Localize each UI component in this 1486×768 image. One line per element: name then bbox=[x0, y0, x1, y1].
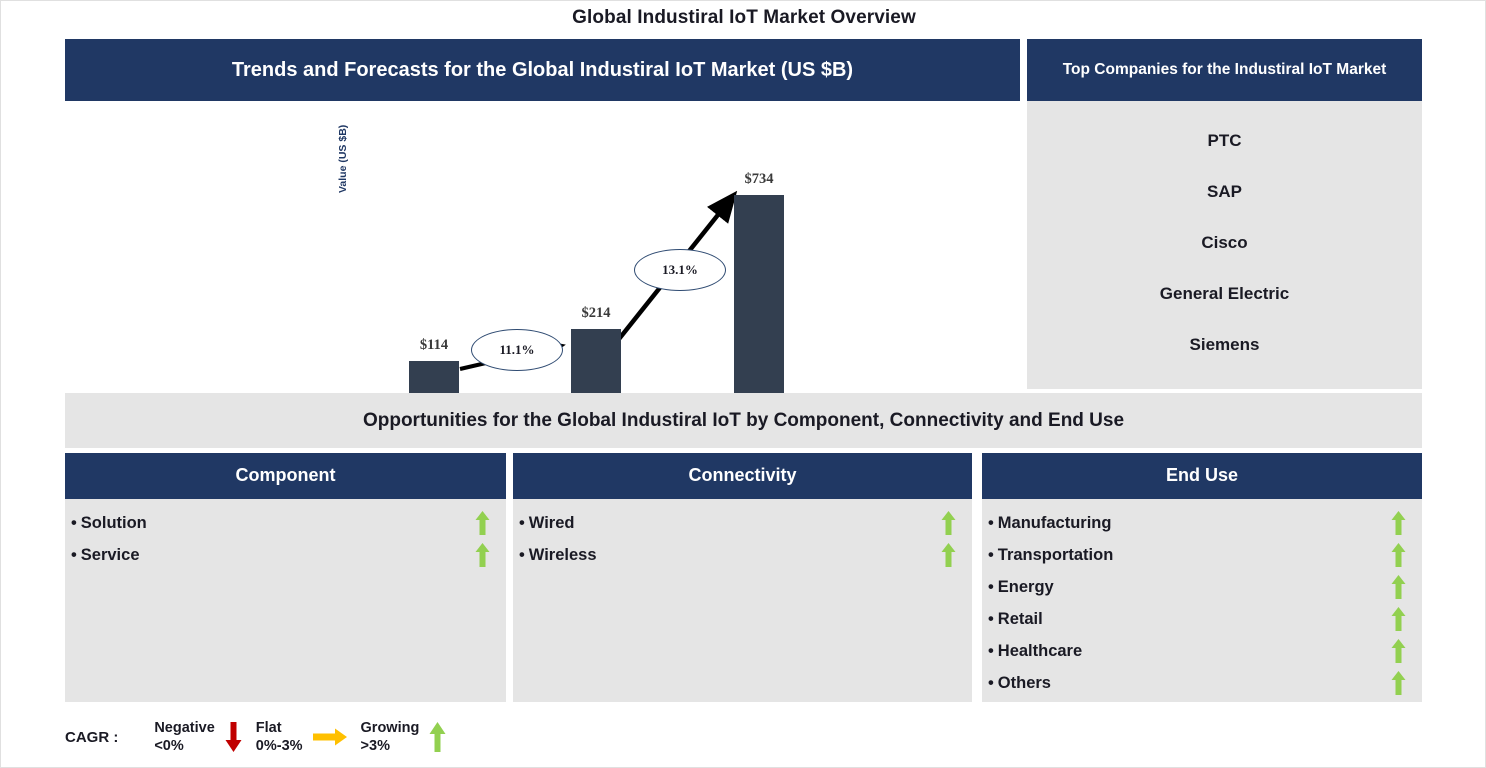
list-item-label: Service bbox=[81, 546, 140, 564]
infographic-page: Global Industiral IoT Market Overview Tr… bbox=[0, 0, 1486, 768]
legend-text-growing: Growing >3% bbox=[361, 719, 420, 755]
opportunity-column-component: Component •Solution •Service bbox=[65, 453, 506, 702]
opportunity-column-connectivity: Connectivity •Wired •Wireless bbox=[513, 453, 972, 702]
bullet-icon: • bbox=[988, 642, 994, 660]
bullet-icon: • bbox=[71, 546, 77, 564]
trend-cell bbox=[1384, 543, 1412, 567]
trend-cell bbox=[1384, 511, 1412, 535]
company-item: SAP bbox=[1207, 182, 1242, 202]
trend-cell bbox=[934, 511, 962, 535]
list-item: •Others bbox=[988, 667, 1412, 699]
column-header-connectivity: Connectivity bbox=[513, 453, 972, 499]
list-item-label-wrap: •Wireless bbox=[519, 546, 934, 565]
chart-panel: Trends and Forecasts for the Global Indu… bbox=[65, 39, 1020, 389]
top-companies-list: PTC SAP Cisco General Electric Siemens bbox=[1027, 101, 1422, 389]
legend-range-negative: <0% bbox=[154, 737, 214, 755]
legend-name-flat: Flat bbox=[256, 719, 303, 737]
cagr-bubble-2025-2035: 13.1% bbox=[634, 249, 726, 291]
bar-value-2019: $114 bbox=[394, 337, 474, 354]
top-companies-header: Top Companies for the Industiral IoT Mar… bbox=[1027, 39, 1422, 101]
list-item-label: Healthcare bbox=[998, 642, 1082, 660]
list-item-label-wrap: •Others bbox=[988, 674, 1384, 693]
arrow-up-icon bbox=[941, 511, 956, 535]
company-item: Cisco bbox=[1201, 233, 1247, 253]
column-body-end-use: •Manufacturing •Transportation •Energy •… bbox=[982, 499, 1422, 702]
list-item-label: Wired bbox=[529, 514, 575, 532]
cagr-bubble-2019-2025: 11.1% bbox=[471, 329, 563, 371]
legend-range-growing: >3% bbox=[361, 737, 420, 755]
legend-item-growing: Growing >3% bbox=[361, 719, 420, 755]
opportunities-banner: Opportunities for the Global Industiral … bbox=[65, 393, 1422, 448]
arrow-up-icon bbox=[1391, 575, 1406, 599]
arrow-right-icon bbox=[313, 728, 347, 746]
list-item: •Wired bbox=[519, 507, 962, 539]
opportunity-column-end-use: End Use •Manufacturing •Transportation •… bbox=[982, 453, 1422, 702]
trend-cell bbox=[1384, 671, 1412, 695]
bullet-icon: • bbox=[988, 546, 994, 564]
company-item: Siemens bbox=[1190, 335, 1260, 355]
legend-name-growing: Growing bbox=[361, 719, 420, 737]
bar-2025 bbox=[571, 329, 621, 397]
y-axis-label: Value (US $B) bbox=[337, 125, 349, 193]
list-item-label: Solution bbox=[81, 514, 147, 532]
bullet-icon: • bbox=[988, 578, 994, 596]
list-item: •Transportation bbox=[988, 539, 1412, 571]
list-item-label-wrap: •Healthcare bbox=[988, 642, 1384, 661]
top-companies-panel: Top Companies for the Industiral IoT Mar… bbox=[1027, 39, 1422, 389]
list-item: •Manufacturing bbox=[988, 507, 1412, 539]
legend-item-negative: Negative <0% bbox=[154, 719, 214, 755]
arrow-up-icon bbox=[1391, 671, 1406, 695]
legend-name-negative: Negative bbox=[154, 719, 214, 737]
list-item-label-wrap: •Retail bbox=[988, 610, 1384, 629]
list-item-label-wrap: •Solution bbox=[71, 514, 468, 533]
list-item-label-wrap: •Service bbox=[71, 546, 468, 565]
arrow-up-icon bbox=[475, 543, 490, 567]
arrow-up-icon bbox=[1391, 607, 1406, 631]
trend-cell bbox=[468, 543, 496, 567]
list-item: •Energy bbox=[988, 571, 1412, 603]
list-item-label-wrap: •Energy bbox=[988, 578, 1384, 597]
list-item: •Wireless bbox=[519, 539, 962, 571]
list-item-label: Wireless bbox=[529, 546, 597, 564]
list-item-label-wrap: •Manufacturing bbox=[988, 514, 1384, 533]
trend-cell bbox=[468, 511, 496, 535]
chart-plot-area: Value (US $B) $114 $214 $734 2019 2025 2… bbox=[65, 101, 1020, 389]
list-item: •Solution bbox=[71, 507, 496, 539]
bar-value-2035: $734 bbox=[719, 171, 799, 188]
arrow-up-icon bbox=[1391, 543, 1406, 567]
legend-text-negative: Negative <0% bbox=[154, 719, 214, 755]
list-item: •Healthcare bbox=[988, 635, 1412, 667]
column-body-component: •Solution •Service bbox=[65, 499, 506, 702]
arrow-down-icon bbox=[225, 722, 242, 752]
legend-item-flat: Flat 0%-3% bbox=[256, 719, 303, 755]
legend-range-flat: 0%-3% bbox=[256, 737, 303, 755]
list-item-label: Retail bbox=[998, 610, 1043, 628]
list-item-label-wrap: •Wired bbox=[519, 514, 934, 533]
list-item-label: Energy bbox=[998, 578, 1054, 596]
arrow-up-icon bbox=[1391, 639, 1406, 663]
list-item-label: Others bbox=[998, 674, 1051, 692]
column-body-connectivity: •Wired •Wireless bbox=[513, 499, 972, 702]
column-header-component: Component bbox=[65, 453, 506, 499]
bullet-icon: • bbox=[988, 674, 994, 692]
list-item-label: Manufacturing bbox=[998, 514, 1112, 532]
bar-2035 bbox=[734, 195, 784, 397]
legend-title: CAGR : bbox=[65, 729, 118, 746]
arrow-up-icon bbox=[475, 511, 490, 535]
trend-cell bbox=[1384, 575, 1412, 599]
bar-2019 bbox=[409, 361, 459, 397]
list-item-label-wrap: •Transportation bbox=[988, 546, 1384, 565]
list-item: •Retail bbox=[988, 603, 1412, 635]
cagr-legend: CAGR : Negative <0% Flat 0%-3% Growing >… bbox=[65, 713, 446, 761]
chart-panel-header: Trends and Forecasts for the Global Indu… bbox=[65, 39, 1020, 101]
list-item-label: Transportation bbox=[998, 546, 1114, 564]
company-item: General Electric bbox=[1160, 284, 1289, 304]
trend-cell bbox=[934, 543, 962, 567]
trend-cell bbox=[1384, 639, 1412, 663]
bullet-icon: • bbox=[988, 610, 994, 628]
company-item: PTC bbox=[1208, 131, 1242, 151]
bar-value-2025: $214 bbox=[556, 305, 636, 322]
arrow-up-icon bbox=[429, 722, 446, 752]
list-item: •Service bbox=[71, 539, 496, 571]
arrow-up-icon bbox=[941, 543, 956, 567]
page-title: Global Industiral IoT Market Overview bbox=[1, 7, 1486, 29]
bullet-icon: • bbox=[519, 514, 525, 532]
bullet-icon: • bbox=[71, 514, 77, 532]
trend-cell bbox=[1384, 607, 1412, 631]
arrow-up-icon bbox=[1391, 511, 1406, 535]
bullet-icon: • bbox=[519, 546, 525, 564]
bullet-icon: • bbox=[988, 514, 994, 532]
legend-text-flat: Flat 0%-3% bbox=[256, 719, 303, 755]
column-header-end-use: End Use bbox=[982, 453, 1422, 499]
